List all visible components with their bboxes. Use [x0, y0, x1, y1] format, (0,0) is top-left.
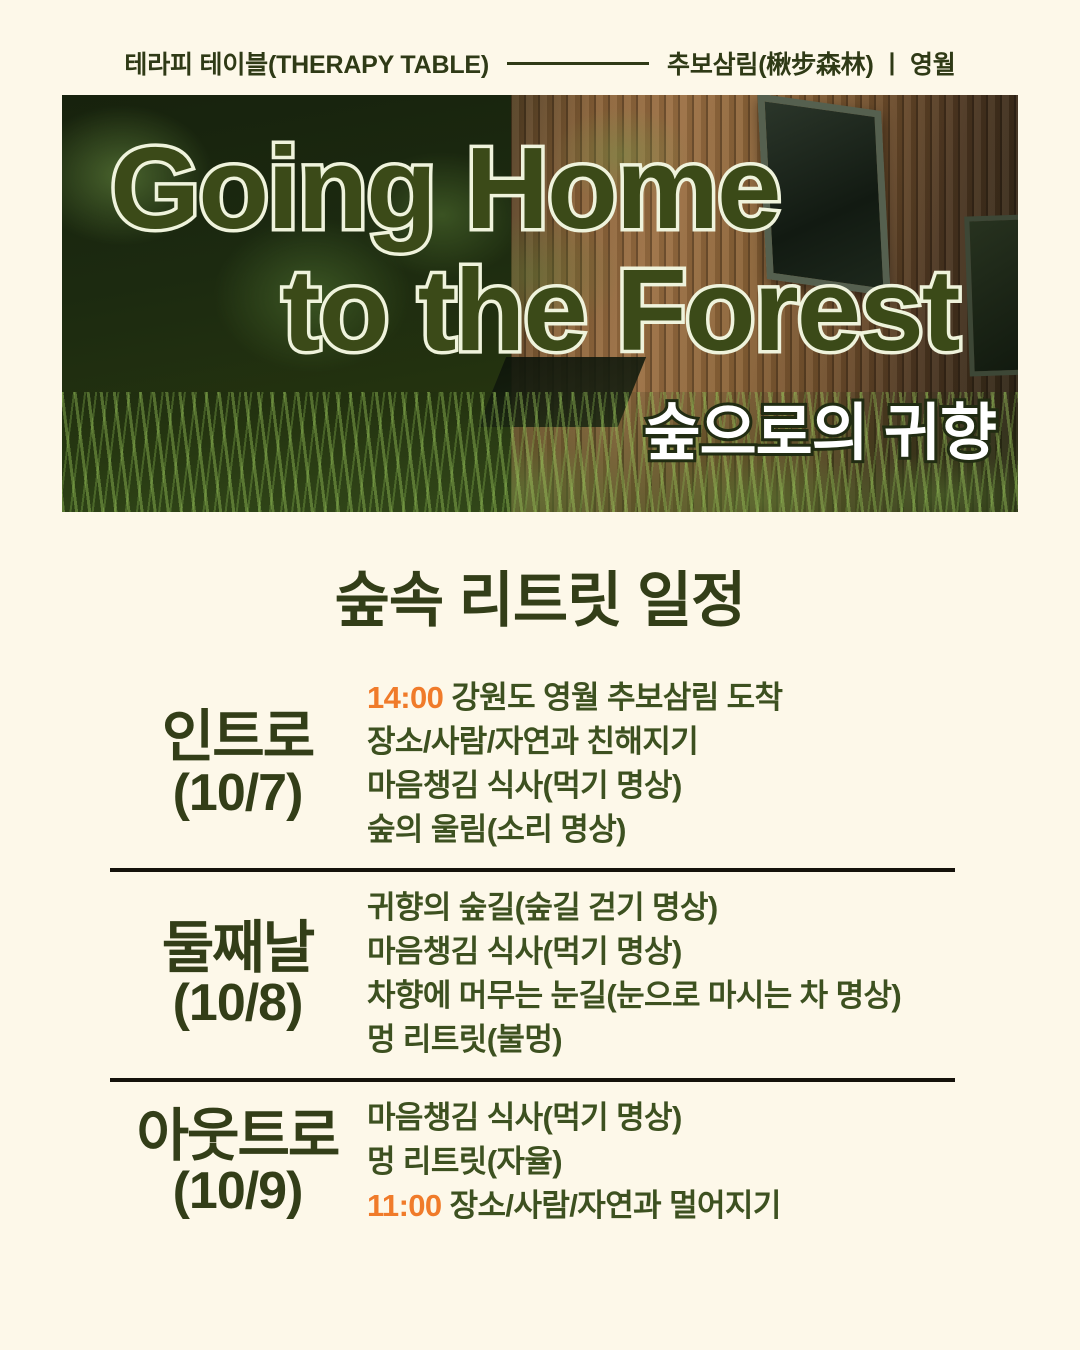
- schedule-item-text: 멍 리트릿(자율): [367, 1144, 562, 1179]
- schedule-item-text: 장소/사람/자연과 멀어지기: [450, 1188, 781, 1223]
- schedule-item-text: 마음챙김 식사(먹기 명상): [367, 934, 682, 969]
- schedule-item: 숲의 울림(소리 명상): [367, 808, 955, 852]
- brand-label: 테라피 테이블(THERAPY TABLE): [124, 45, 489, 81]
- schedule-item: 마음챙김 식사(먹기 명상): [367, 764, 955, 808]
- schedule-item: 마음챙김 식사(먹기 명상): [367, 1096, 955, 1140]
- schedule-list: 인트로(10/7)14:00 강원도 영월 추보삼림 도착장소/사람/자연과 친…: [110, 662, 955, 1244]
- schedule-day-label: 둘째날(10/8): [110, 919, 365, 1030]
- schedule-day-label: 인트로(10/7): [110, 708, 365, 819]
- schedule-row: 아웃트로(10/9)마음챙김 식사(먹기 명상)멍 리트릿(자율)11:00 장…: [110, 1078, 955, 1244]
- schedule-item: 멍 리트릿(자율): [367, 1140, 955, 1184]
- cabin-window-icon: [757, 95, 890, 297]
- schedule-row: 인트로(10/7)14:00 강원도 영월 추보삼림 도착장소/사람/자연과 친…: [110, 662, 955, 868]
- grass-foreground-layer: [62, 392, 1018, 512]
- schedule-day-label: 아웃트로(10/9): [110, 1107, 365, 1218]
- schedule-item: 차향에 머무는 눈길(눈으로 마시는 차 명상): [367, 974, 955, 1018]
- schedule-item-time: 11:00: [367, 1188, 442, 1223]
- schedule-item: 마음챙김 식사(먹기 명상): [367, 930, 955, 974]
- schedule-item-text: 마음챙김 식사(먹기 명상): [367, 768, 682, 803]
- schedule-item: 멍 리트릿(불멍): [367, 1018, 955, 1062]
- schedule-item: 장소/사람/자연과 친해지기: [367, 720, 955, 764]
- schedule-day-name: 인트로: [110, 708, 365, 766]
- schedule-items: 14:00 강원도 영월 추보삼림 도착장소/사람/자연과 친해지기마음챙김 식…: [365, 676, 955, 852]
- schedule-item-text: 귀향의 숲길(숲길 걷기 명상): [367, 890, 718, 925]
- header-bar: 테라피 테이블(THERAPY TABLE) 추보삼림(楸步森林) ㅣ 영월: [0, 44, 1080, 82]
- schedule-item-text: 강원도 영월 추보삼림 도착: [451, 680, 782, 715]
- schedule-item-text: 장소/사람/자연과 친해지기: [367, 724, 698, 759]
- schedule-day-name: 둘째날: [110, 919, 365, 977]
- schedule-item-time: 14:00: [367, 680, 443, 715]
- schedule-item: 14:00 강원도 영월 추보삼림 도착: [367, 676, 955, 720]
- location-label: 추보삼림(楸步森林) ㅣ 영월: [667, 45, 956, 81]
- schedule-day-date: (10/9): [110, 1165, 365, 1218]
- hero-banner: Going Home to the Forest 숲으로의 귀향: [62, 95, 1018, 512]
- schedule-item-text: 마음챙김 식사(먹기 명상): [367, 1100, 682, 1135]
- cabin-window-secondary-icon: [964, 213, 1018, 376]
- schedule-item-text: 멍 리트릿(불멍): [367, 1022, 562, 1057]
- schedule-day-date: (10/8): [110, 977, 365, 1030]
- schedule-row: 둘째날(10/8)귀향의 숲길(숲길 걷기 명상)마음챙김 식사(먹기 명상)차…: [110, 868, 955, 1078]
- header-divider-rule: [507, 62, 649, 65]
- schedule-day-name: 아웃트로: [110, 1107, 365, 1165]
- schedule-items: 귀향의 숲길(숲길 걷기 명상)마음챙김 식사(먹기 명상)차향에 머무는 눈길…: [365, 886, 955, 1062]
- schedule-day-date: (10/7): [110, 767, 365, 820]
- schedule-item-text: 숲의 울림(소리 명상): [367, 812, 626, 847]
- schedule-items: 마음챙김 식사(먹기 명상)멍 리트릿(자율)11:00 장소/사람/자연과 멀…: [365, 1096, 955, 1228]
- schedule-item-text: 차향에 머무는 눈길(눈으로 마시는 차 명상): [367, 978, 901, 1013]
- schedule-item: 귀향의 숲길(숲길 걷기 명상): [367, 886, 955, 930]
- schedule-section-heading: 숲속 리트릿 일정: [0, 552, 1080, 639]
- schedule-item: 11:00 장소/사람/자연과 멀어지기: [367, 1184, 955, 1228]
